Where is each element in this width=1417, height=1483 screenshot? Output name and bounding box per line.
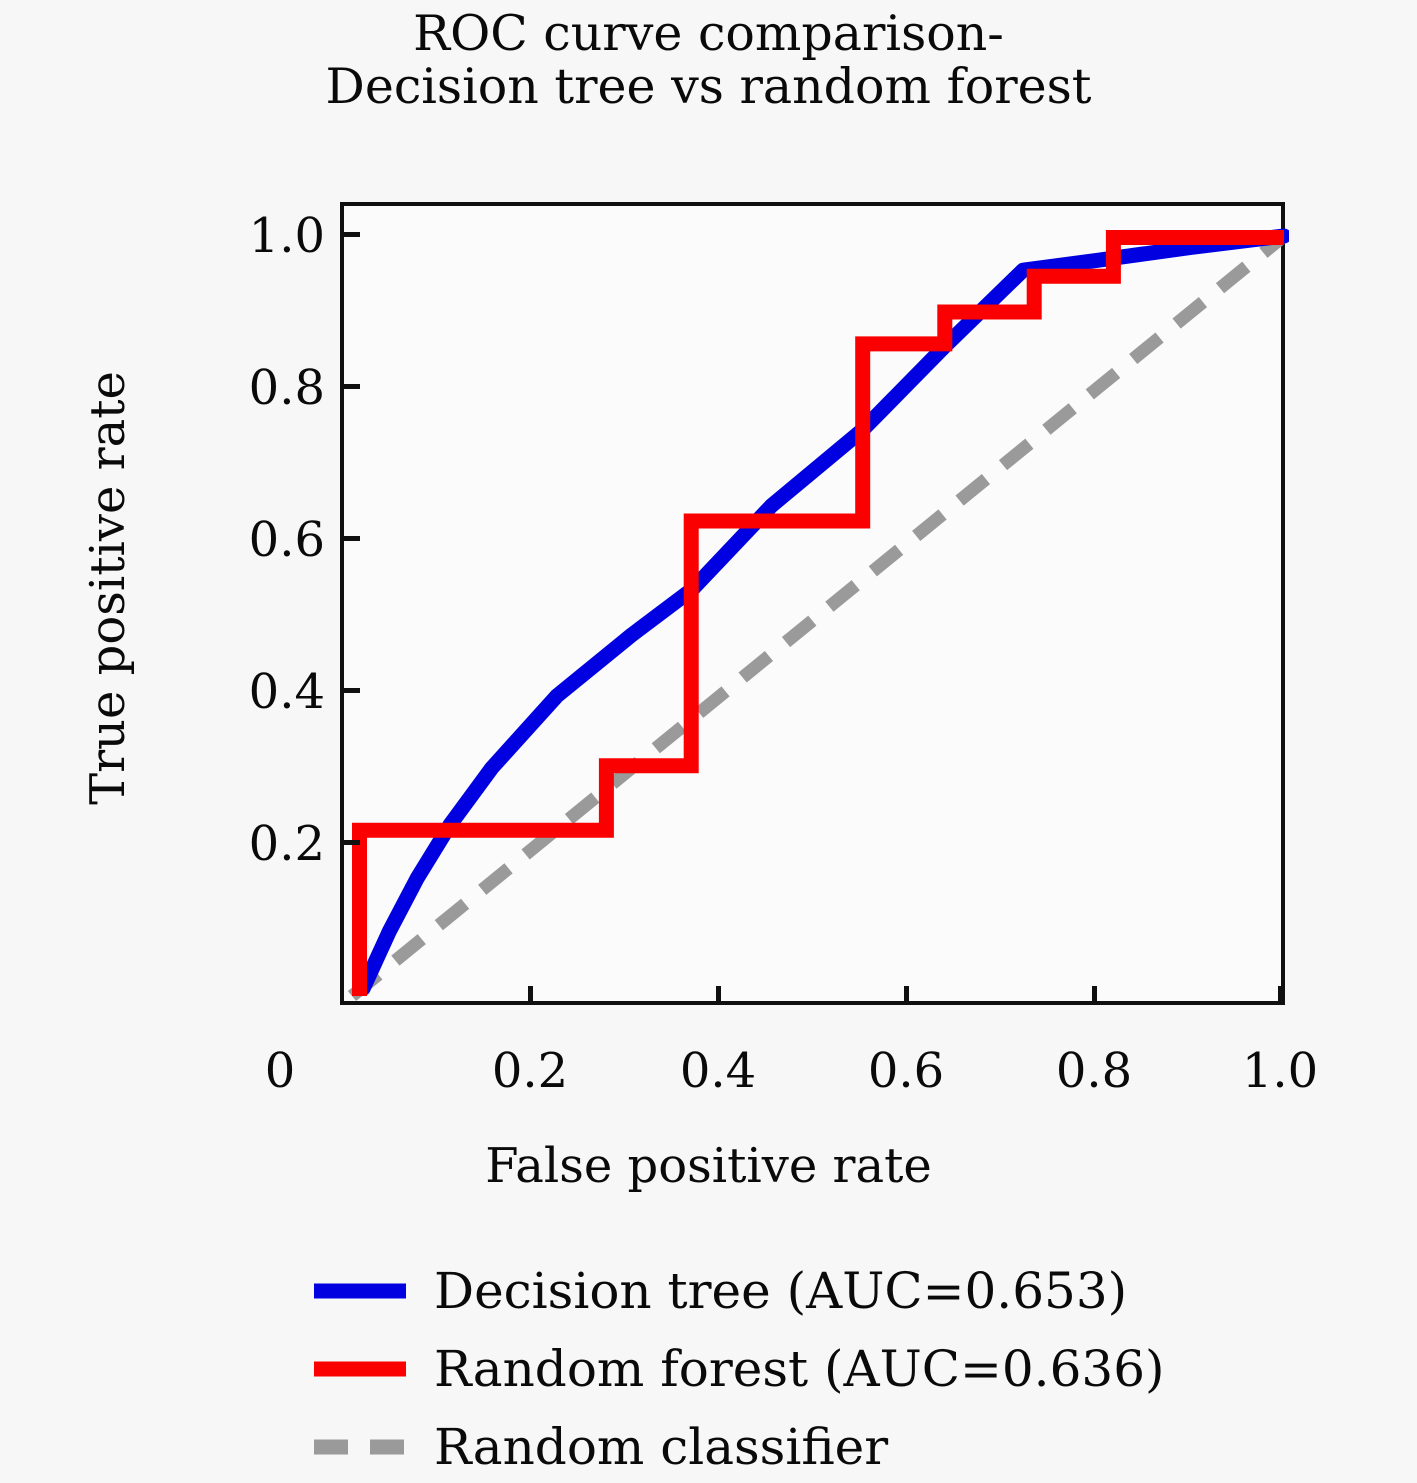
legend-swatch-solid-blue-icon <box>312 1271 408 1311</box>
xtick-label-1.0: 1.0 <box>1180 1043 1380 1099</box>
plot-area <box>340 202 1285 1005</box>
chart-legend: Decision tree (AUC=0.653) Random forest … <box>312 1252 1372 1483</box>
xtick-label-0.2: 0.2 <box>430 1043 630 1099</box>
ytick-label-0.6: 0.6 <box>125 512 325 568</box>
legend-swatch-solid-red-icon <box>312 1349 408 1389</box>
x-axis-label: False positive rate <box>0 1138 1417 1194</box>
legend-item-random-classifier: Random classifier <box>312 1408 1372 1483</box>
ytick-label-0.2: 0.2 <box>125 816 325 872</box>
xtick-label-0.8: 0.8 <box>994 1043 1194 1099</box>
ytick-mark-0.4 <box>344 688 360 693</box>
xtick-mark-0.6 <box>904 986 909 1005</box>
xtick-mark-1.0 <box>1278 986 1283 1005</box>
legend-label-random-forest: Random forest (AUC=0.636) <box>434 1344 1165 1394</box>
ytick-label-0.8: 0.8 <box>125 360 325 416</box>
xtick-label-0: 0 <box>180 1043 380 1099</box>
xtick-mark-0.2 <box>528 986 533 1005</box>
legend-label-random-classifier: Random classifier <box>434 1422 888 1472</box>
ytick-mark-1.0 <box>344 232 360 237</box>
legend-swatch-dashed-gray-icon <box>312 1427 408 1467</box>
ytick-label-0.4: 0.4 <box>125 664 325 720</box>
plot-svg <box>344 206 1289 1009</box>
legend-label-decision-tree: Decision tree (AUC=0.653) <box>434 1266 1127 1316</box>
series-random-classifier <box>352 236 1284 996</box>
xtick-label-0.4: 0.4 <box>618 1043 818 1099</box>
xtick-mark-0.4 <box>716 986 721 1005</box>
ytick-label-1.0: 1.0 <box>125 208 325 264</box>
xtick-label-0.6: 0.6 <box>806 1043 1006 1099</box>
y-axis-label: True positive rate <box>80 238 136 938</box>
ytick-mark-0.6 <box>344 536 360 541</box>
legend-item-decision-tree: Decision tree (AUC=0.653) <box>312 1252 1372 1330</box>
ytick-mark-0.2 <box>344 840 360 845</box>
chart-figure: ROC curve comparison- Decision tree vs r… <box>0 0 1417 1483</box>
legend-item-random-forest: Random forest (AUC=0.636) <box>312 1330 1372 1408</box>
chart-title: ROC curve comparison- Decision tree vs r… <box>0 8 1417 114</box>
xtick-mark-0.8 <box>1092 986 1097 1005</box>
ytick-mark-0.8 <box>344 384 360 389</box>
